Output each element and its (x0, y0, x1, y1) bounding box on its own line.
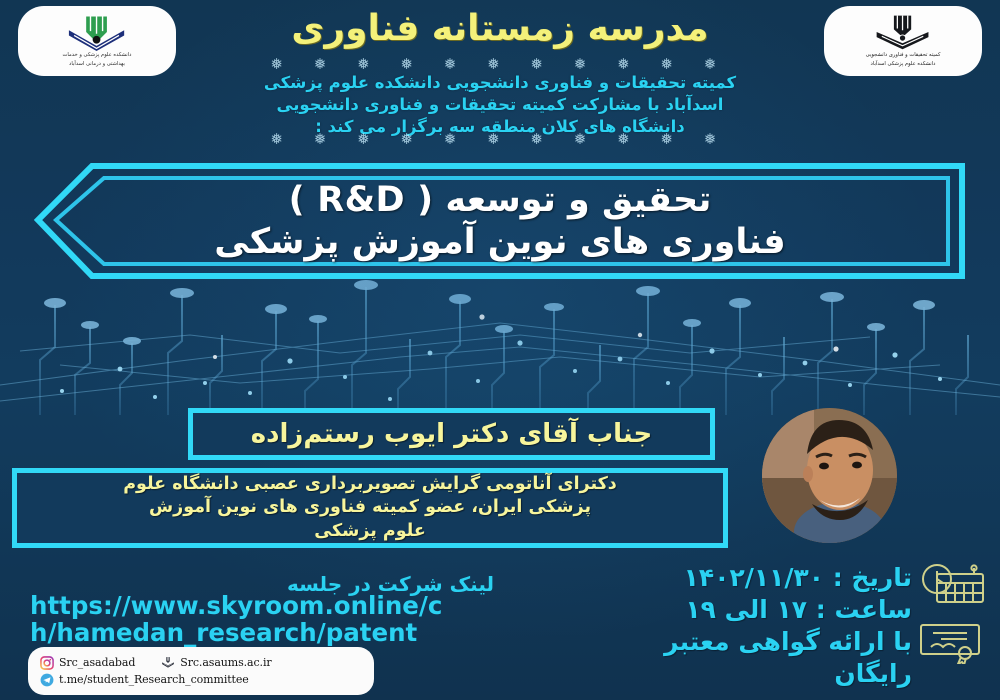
university-emblem-icon (161, 656, 175, 670)
event-poster: دانشکده علوم پزشکی و خدمات بهداشتی و درم… (0, 0, 1000, 700)
subtitle-line-1: کمیته تحقیقات و فناوری دانشجویی دانشکده … (120, 72, 880, 94)
event-date: تاریخ : ۱۴۰۲/۱۱/۳۰ (572, 562, 912, 594)
telegram-icon[interactable] (40, 673, 54, 687)
main-title-frame: تحقیق و توسعه ( R&D ) فناوری های نوین آم… (34, 158, 966, 284)
website-address[interactable]: Src.asaums.ac.ir (180, 656, 271, 669)
circuit-pattern-decoration (0, 265, 1000, 415)
instagram-icon[interactable] (40, 656, 54, 670)
social-row-top: Src_asadabad Src.asaums.ac.ir (40, 656, 362, 670)
speaker-bio-line-3: علوم پزشکی (123, 520, 617, 543)
meeting-link-url-line-2[interactable]: h/hamedan_research/patent (30, 619, 510, 646)
speaker-bio-line-2: پزشکی ایران، عضو کمیته فناوری های نوین آ… (123, 496, 617, 519)
social-row-bottom: t.me/student_Research_committee (40, 673, 362, 687)
poster-header-title: مدرسه زمستانه فناوری (0, 8, 1000, 49)
meeting-link-url-line-1[interactable]: https://www.skyroom.online/c (30, 592, 510, 619)
main-title-text: تحقیق و توسعه ( R&D ) فناوری های نوین آم… (34, 158, 966, 284)
main-title-line-2: فناوری های نوین آموزش پزشکی (214, 222, 785, 262)
speaker-bio-line-1: دکترای آناتومی گرایش تصویربرداری عصبی دا… (123, 473, 617, 496)
main-title-line-1: تحقیق و توسعه ( R&D ) (289, 180, 712, 220)
event-time: ساعت : ۱۷ الی ۱۹ (572, 594, 912, 626)
subtitle-line-2: اسدآباد با مشارکت کمیته تحقیقات و فناوری… (120, 94, 880, 116)
instagram-handle[interactable]: Src_asadabad (59, 656, 135, 669)
telegram-handle[interactable]: t.me/student_Research_committee (59, 673, 249, 686)
event-detail-icons (910, 562, 992, 664)
snowflake-divider-bottom: ❅ ❅ ❅ ❅ ❅ ❅ ❅ ❅ ❅ ❅ ❅ (0, 130, 1000, 148)
portrait-illustration-icon (762, 408, 897, 543)
meeting-link-url[interactable]: https://www.skyroom.online/c h/hamedan_r… (30, 592, 510, 647)
certificate-icon (915, 620, 987, 664)
snowflake-divider-top: ❅ ❅ ❅ ❅ ❅ ❅ ❅ ❅ ❅ ❅ ❅ (0, 55, 1000, 73)
speaker-bio-box: دکترای آناتومی گرایش تصویربرداری عصبی دا… (12, 468, 728, 548)
event-details-text: تاریخ : ۱۴۰۲/۱۱/۳۰ ساعت : ۱۷ الی ۱۹ با ا… (572, 562, 912, 690)
speaker-portrait-photo (762, 408, 897, 543)
social-contact-card: Src_asadabad Src.asaums.ac.ir t.me/stude… (28, 647, 374, 695)
calendar-clock-icon (915, 562, 987, 610)
event-certificate-note: با ارائه گواهی معتبر (572, 626, 912, 658)
event-free-note: رایگان (572, 658, 912, 690)
poster-subtitle: کمیته تحقیقات و فناوری دانشجویی دانشکده … (120, 72, 880, 138)
speaker-name-box: جناب آقای دکتر ایوب رستم‌زاده (188, 408, 715, 460)
